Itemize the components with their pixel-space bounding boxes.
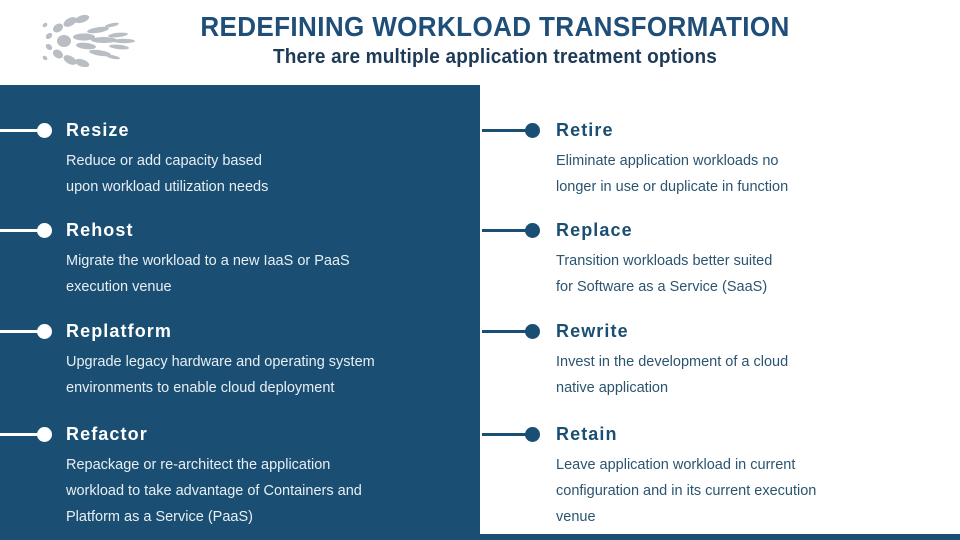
option-description-line: Platform as a Service (PaaS) xyxy=(66,504,362,530)
option-description: Migrate the workload to a new IaaS or Pa… xyxy=(66,248,350,300)
bullet-dot-icon xyxy=(525,123,540,138)
option-heading: Replatform xyxy=(66,319,172,343)
bullet-dot-icon xyxy=(37,324,52,339)
option-description-line: workload to take advantage of Containers… xyxy=(66,478,362,504)
option-heading: Refactor xyxy=(66,422,148,446)
option-heading: Replace xyxy=(556,218,633,242)
option-description: Invest in the development of a cloud nat… xyxy=(556,349,788,401)
option-description-line: Invest in the development of a cloud xyxy=(556,349,788,375)
option-description-line: Migrate the workload to a new IaaS or Pa… xyxy=(66,248,350,274)
connector-line-icon xyxy=(482,229,528,232)
page-subtitle: There are multiple application treatment… xyxy=(167,44,823,70)
bullet-dot-icon xyxy=(37,427,52,442)
option-description-line: for Software as a Service (SaaS) xyxy=(556,274,772,300)
bottom-accent-bar xyxy=(480,534,960,540)
option-description: Reduce or add capacity based upon worklo… xyxy=(66,148,268,200)
option-description-line: Leave application workload in current xyxy=(556,452,816,478)
option-description-line: longer in use or duplicate in function xyxy=(556,174,788,200)
option-heading: Resize xyxy=(66,118,130,142)
option-heading: Rehost xyxy=(66,218,134,242)
bullet-dot-icon xyxy=(525,427,540,442)
option-description-line: upon workload utilization needs xyxy=(66,174,268,200)
slide-root: REDEFINING WORKLOAD TRANSFORMATION There… xyxy=(0,0,960,540)
option-description-line: Eliminate application workloads no xyxy=(556,148,788,174)
option-description-line: Repackage or re-architect the applicatio… xyxy=(66,452,362,478)
connector-line-icon xyxy=(482,433,528,436)
option-description-line: environments to enable cloud deployment xyxy=(66,375,375,401)
option-description-line: configuration and in its current executi… xyxy=(556,478,816,504)
connector-line-icon xyxy=(482,330,528,333)
option-description-line: native application xyxy=(556,375,788,401)
option-heading: Retain xyxy=(556,422,618,446)
page-title: REDEFINING WORKLOAD TRANSFORMATION xyxy=(174,10,816,44)
option-heading: Retire xyxy=(556,118,614,142)
option-description: Eliminate application workloads no longe… xyxy=(556,148,788,200)
title-block: REDEFINING WORKLOAD TRANSFORMATION There… xyxy=(150,10,840,70)
option-description-line: Transition workloads better suited xyxy=(556,248,772,274)
bullet-dot-icon xyxy=(37,223,52,238)
bullet-dot-icon xyxy=(37,123,52,138)
option-description: Upgrade legacy hardware and operating sy… xyxy=(66,349,375,401)
company-swoosh-logo xyxy=(36,10,140,74)
option-description: Transition workloads better suited for S… xyxy=(556,248,772,300)
option-description-line: venue xyxy=(556,504,816,530)
left-options-panel: Resize Reduce or add capacity based upon… xyxy=(0,85,480,540)
option-description: Leave application workload in current co… xyxy=(556,452,816,530)
option-description-line: execution venue xyxy=(66,274,350,300)
option-description: Repackage or re-architect the applicatio… xyxy=(66,452,362,530)
bullet-dot-icon xyxy=(525,324,540,339)
slide-header: REDEFINING WORKLOAD TRANSFORMATION There… xyxy=(0,0,960,85)
bullet-dot-icon xyxy=(525,223,540,238)
option-description-line: Upgrade legacy hardware and operating sy… xyxy=(66,349,375,375)
option-description-line: Reduce or add capacity based xyxy=(66,148,268,174)
right-options-panel: Retire Eliminate application workloads n… xyxy=(480,85,960,540)
option-heading: Rewrite xyxy=(556,319,629,343)
connector-line-icon xyxy=(482,129,528,132)
